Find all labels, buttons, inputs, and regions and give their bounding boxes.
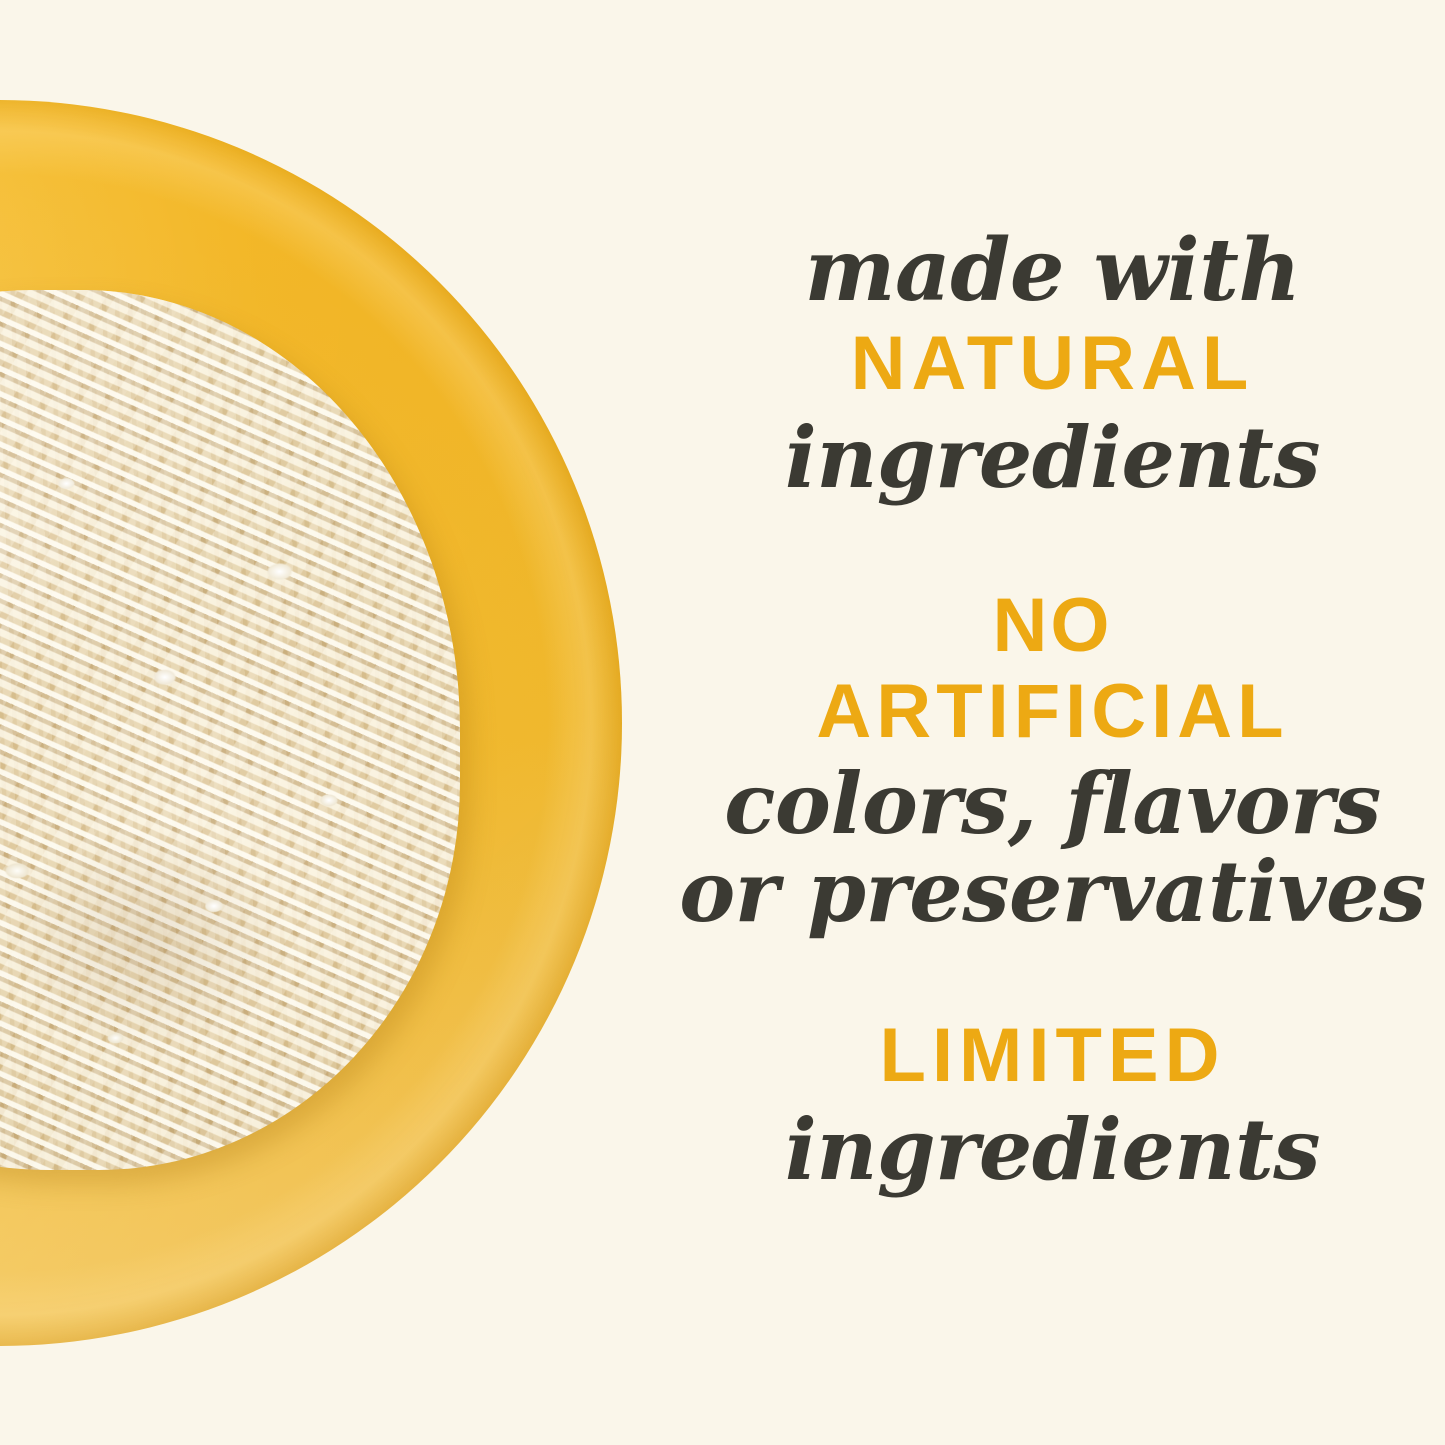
claims-panel: made with NATURAL ingredients NO ARTIFIC… [660,0,1445,1445]
claim-line: LIMITED [660,1018,1445,1094]
product-feature-banner: made with NATURAL ingredients NO ARTIFIC… [0,0,1445,1445]
claim-line: NO [660,588,1445,664]
shredded-chicken-and-rice [0,290,460,1170]
claim-line: or preservatives [660,850,1445,934]
claim-line: ARTIFICIAL [660,674,1445,750]
claim-line: NATURAL [660,326,1445,402]
claim-natural-ingredients: made with NATURAL ingredients [660,228,1445,500]
claim-no-artificial: NO ARTIFICIAL colors, flavors or preserv… [660,588,1445,934]
claim-line: ingredients [660,1108,1445,1192]
claim-line: ingredients [660,416,1445,500]
product-photo [0,0,700,1445]
claim-line: made with [660,228,1445,314]
claim-limited-ingredients: LIMITED ingredients [660,1018,1445,1192]
claim-line: colors, flavors [660,762,1445,846]
